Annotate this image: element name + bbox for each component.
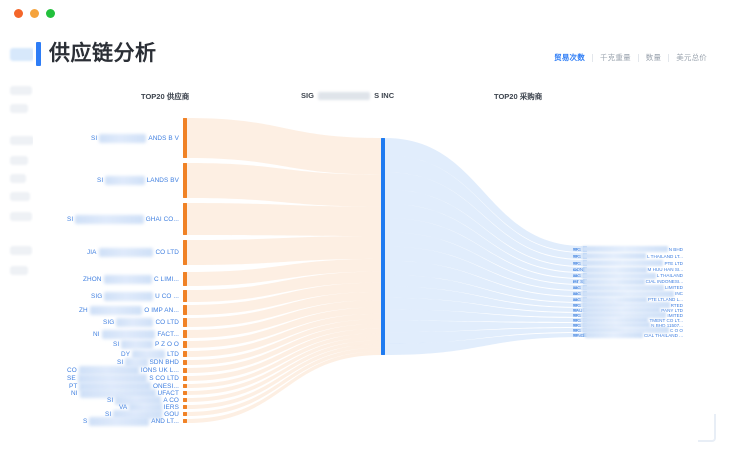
supplier-label-suffix: P Z O O [155,341,179,348]
supplier-label-suffix: AND LT... [151,418,179,425]
minimize-button[interactable] [30,9,39,18]
supplier-label-suffix: LTD [167,351,179,358]
supplier-label-19[interactable]: SAND LT... [83,416,179,427]
supplier-label-3[interactable]: JIACO LTD [87,247,179,258]
supplier-label-suffix: IERS [164,404,179,411]
supplier-label-prefix: NI [93,331,100,338]
buyer-label-suffix: PTE LTD [664,261,683,266]
supplier-label-0[interactable]: SIANDS B V [91,133,179,144]
sidebar-item-7[interactable] [10,212,32,221]
buyer-label-prefix: SING [573,333,584,338]
buyer-label-suffix: CIAL THAILAND ... [644,333,683,338]
supplier-label-suffix: UFACT [158,390,179,397]
supplier-label-prefix: PT [69,383,77,390]
buyer-label-15[interactable]: SINGCIAL THAILAND ... [573,332,683,339]
supplier-label-4[interactable]: ZHONC LIMI... [83,274,179,285]
supplier-label-suffix: FACT... [157,331,179,338]
supplier-label-prefix: SI [105,411,111,418]
redacted-block [582,253,646,259]
sidebar-item-3[interactable] [10,136,34,145]
supplier-label-6[interactable]: ZHO IMP AN... [79,305,179,316]
redacted-block [104,275,152,284]
redacted-block [585,332,643,338]
supplier-label-1[interactable]: SILANDS BV [97,175,179,186]
supplier-label-prefix: SI [113,341,119,348]
maximize-button[interactable] [46,9,55,18]
supplier-label-suffix: ONESI... [153,383,179,390]
page-title-group: 供应链分析 [36,42,157,66]
supplier-label-prefix: JIA [87,249,97,256]
sidebar-item-1[interactable] [10,86,32,95]
supplier-label-prefix: VA [119,404,127,411]
supplier-label-prefix: ZH [79,307,88,314]
redacted-block [90,306,143,315]
sidebar-item-9[interactable] [10,266,28,275]
redacted-block [99,248,154,257]
sidebar-item-2[interactable] [10,104,28,113]
sidebar-item-4[interactable] [10,156,28,165]
sidebar-item-6[interactable] [10,192,30,201]
supplier-label-suffix: IONS UK L... [141,367,179,374]
metric-tabs[interactable]: 贸易次数 千克重量 数量 美元总价 [547,52,714,63]
redacted-block [105,176,144,185]
redacted-block [99,134,146,143]
redacted-block [75,215,143,224]
supplier-label-prefix: SI [107,397,113,404]
supplier-label-suffix: ANDS B V [148,135,179,142]
buyer-label-prefix: SIG [573,247,581,252]
redacted-block [582,246,668,252]
tab-trade-count[interactable]: 贸易次数 [547,52,592,63]
supplier-label-suffix: U CO ... [155,293,179,300]
supplier-label-suffix: SDN BHD [150,359,179,366]
app-window: 供应链分析 贸易次数 千克重量 数量 美元总价 TOP20 供应商 SIG S … [0,0,730,460]
supplier-label-prefix: CO [67,367,77,374]
supplier-label-5[interactable]: SIGU CO ... [91,291,179,302]
sidebar-item-8[interactable] [10,246,32,255]
focal-suffix: S INC [374,91,394,100]
supplier-label-suffix: GOU [164,411,179,418]
page-title: 供应链分析 [49,42,157,66]
column-header-focal-company: SIG S INC [301,91,394,100]
tab-usd-total[interactable]: 美元总价 [669,52,714,63]
supplier-label-suffix: CO LTD [155,249,179,256]
close-button[interactable] [14,9,23,18]
focal-prefix: SIG [301,91,314,100]
buyer-label-prefix: SIG [573,261,581,266]
supplier-label-prefix: SI [91,135,97,142]
corner-decoration [698,414,716,442]
buyer-label-0[interactable]: SIGN BHD [573,246,683,253]
supplier-label-suffix: GHAI CO... [146,216,179,223]
tab-quantity[interactable]: 数量 [639,52,668,63]
sidebar-item-5[interactable] [10,174,26,183]
supplier-label-prefix: SI [97,177,103,184]
redacted-block [116,318,153,327]
supplier-label-suffix: LANDS BV [147,177,179,184]
supplier-label-prefix: SIG [91,293,102,300]
supplier-label-prefix: S [83,418,87,425]
supplier-label-prefix: SI [67,216,73,223]
title-accent-bar [36,42,41,66]
redacted-block [104,292,153,301]
supplier-label-suffix: CO LTD [155,319,179,326]
column-header-buyers: TOP20 采购商 [494,91,542,102]
window-titlebar [0,0,730,26]
supplier-label-prefix: SIG [103,319,114,326]
supplier-label-7[interactable]: SIGCO LTD [103,317,179,328]
buyer-label-1[interactable]: SIGL THAILAND LT... [573,253,683,260]
supplier-label-prefix: ZHON [83,276,102,283]
supplier-label-suffix: A CO [163,397,179,404]
sidebar [0,26,33,460]
tab-kg-weight[interactable]: 千克重量 [593,52,638,63]
supplier-label-suffix: O IMP AN... [144,307,179,314]
supplier-label-prefix: SI [117,359,123,366]
buyer-label-prefix: SIG [573,254,581,259]
supplier-label-prefix: SE [67,375,76,382]
buyer-label-suffix: L THAILAND LT... [647,254,683,259]
supplier-label-8[interactable]: NIFACT... [93,329,179,340]
buyer-label-suffix: N BHD [669,247,683,252]
supplier-label-suffix: S CO LTD [149,375,179,382]
supplier-label-prefix: DY [121,351,130,358]
redacted-block [89,417,149,426]
supplier-label-2[interactable]: SIGHAI CO... [67,214,179,225]
supplier-label-suffix: C LIMI... [154,276,179,283]
redacted-block [318,92,370,100]
window-controls [14,9,55,18]
column-header-suppliers: TOP20 供应商 [141,91,189,102]
sidebar-item-0[interactable] [10,48,34,61]
supplier-label-prefix: NI [71,390,78,397]
redacted-block [102,330,156,339]
